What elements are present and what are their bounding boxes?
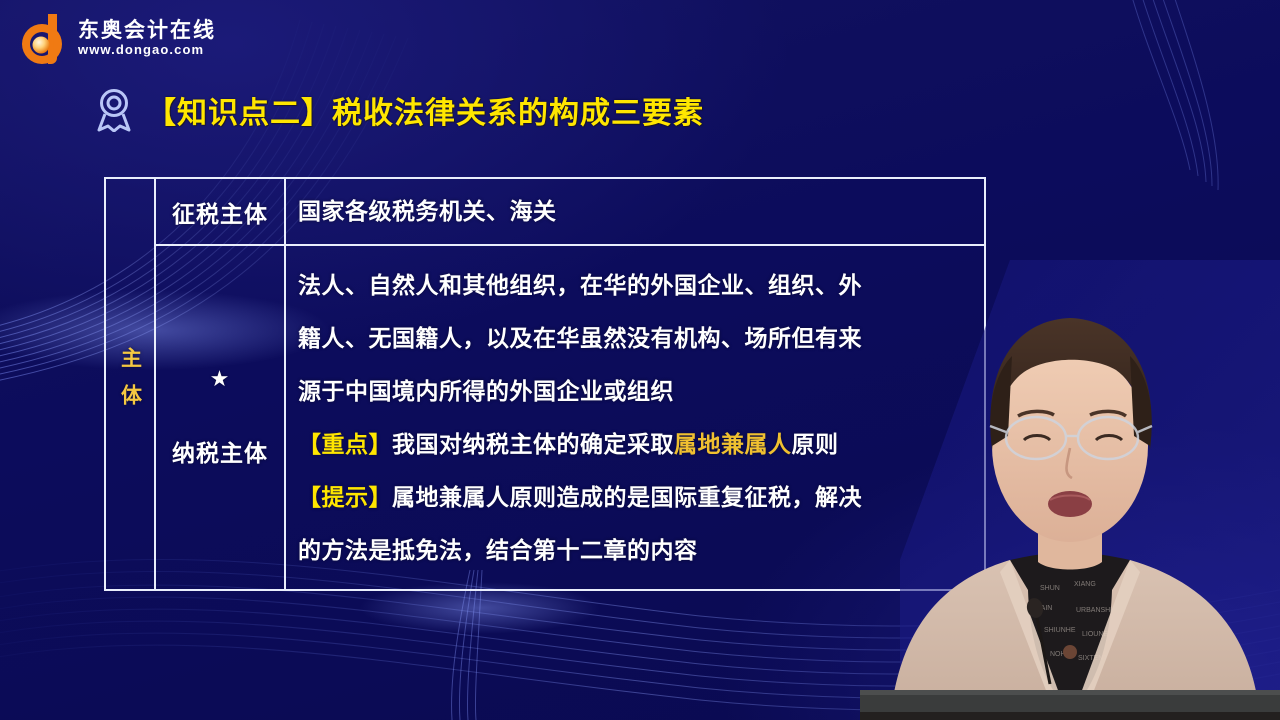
page-title: 【知识点二】税收法律关系的构成三要素 — [146, 88, 704, 132]
group-label-subject: 主体 — [120, 347, 141, 421]
svg-text:SHIUNHE: SHIUNHE — [1044, 627, 1076, 634]
value-line: 的方法是抵免法，结合第十二章的内容 — [298, 524, 974, 577]
value-segment: 法人、自然人和其他组织，在华的外国企业、组织、外 — [298, 272, 862, 298]
slide-title-row: 【知识点二】税收法律关系的构成三要素 — [96, 88, 704, 132]
row-value-cell: 法人、自然人和其他组织，在华的外国企业、组织、外 籍人、无国籍人，以及在华虽然没… — [286, 246, 984, 589]
star-icon: ★ — [210, 368, 231, 390]
highlight-principle: 属地兼属人 — [674, 431, 792, 457]
svg-text:URBANSHUN: URBANSHUN — [1076, 607, 1120, 614]
value-segment: 籍人、无国籍人，以及在华虽然没有机构、场所但有来 — [298, 325, 862, 351]
value-line: 籍人、无国籍人，以及在华虽然没有机构、场所但有来 — [298, 312, 974, 365]
value-segment: 属地兼属人原则造成的是国际重复征税，解决 — [392, 484, 862, 510]
value-line: 法人、自然人和其他组织，在华的外国企业、组织、外 — [298, 259, 974, 312]
row-key-cell: ★ 纳税主体 — [156, 246, 286, 589]
svg-text:SIXTENT: SIXTENT — [1078, 655, 1108, 662]
table-row: 征税主体 国家各级税务机关、海关 — [156, 179, 984, 246]
brand-logo: 东奥会计在线 www.dongao.com — [12, 10, 216, 66]
value-segment: 源于中国境内所得的外国企业或组织 — [298, 378, 674, 404]
row-value-cell: 国家各级税务机关、海关 — [286, 179, 984, 244]
value-line: 国家各级税务机关、海关 — [298, 200, 974, 223]
value-line: 源于中国境内所得的外国企业或组织 — [298, 365, 974, 418]
tip-tag: 【提示】 — [298, 484, 392, 510]
value-line-key-point: 【重点】我国对纳税主体的确定采取属地兼属人原则 — [298, 418, 974, 471]
svg-text:NOHIN: NOHIN — [1050, 651, 1073, 658]
table-rows-container: 征税主体 国家各级税务机关、海关 ★ 纳税主体 法人、自然人和其他组织，在华的外… — [156, 179, 984, 589]
dongao-d-mark-icon — [12, 10, 68, 66]
value-segment: 的方法是抵免法，结合第十二章的内容 — [298, 537, 698, 563]
value-segment: 原则 — [792, 431, 839, 457]
key-point-tag: 【重点】 — [298, 431, 392, 457]
value-line-tip: 【提示】属地兼属人原则造成的是国际重复征税，解决 — [298, 471, 974, 524]
slide-stage: 东奥会计在线 www.dongao.com 【知识点二】税收法律关系的构成三要素… — [0, 0, 1280, 720]
svg-text:KAIN: KAIN — [1036, 605, 1052, 612]
content-table: 主体 征税主体 国家各级税务机关、海关 ★ 纳税主体 — [104, 177, 986, 591]
brand-name-cn: 东奥会计在线 — [78, 20, 216, 41]
svg-text:LIOUNE: LIOUNE — [1082, 631, 1108, 638]
row-key-label: 纳税主体 — [172, 434, 268, 468]
svg-text:XIANG: XIANG — [1074, 581, 1096, 588]
value-segment: 我国对纳税主体的确定采取 — [392, 431, 674, 457]
row-key-label: 征税主体 — [172, 195, 268, 229]
row-key-cell: 征税主体 — [156, 179, 286, 244]
svg-text:SHUN: SHUN — [1040, 585, 1060, 592]
table-row: ★ 纳税主体 法人、自然人和其他组织，在华的外国企业、组织、外 籍人、无国籍人，… — [156, 246, 984, 589]
brand-url: www.dongao.com — [78, 43, 216, 56]
medal-award-icon — [96, 88, 132, 132]
value-segment: 国家各级税务机关、海关 — [298, 198, 557, 224]
table-group-column: 主体 — [106, 179, 156, 589]
